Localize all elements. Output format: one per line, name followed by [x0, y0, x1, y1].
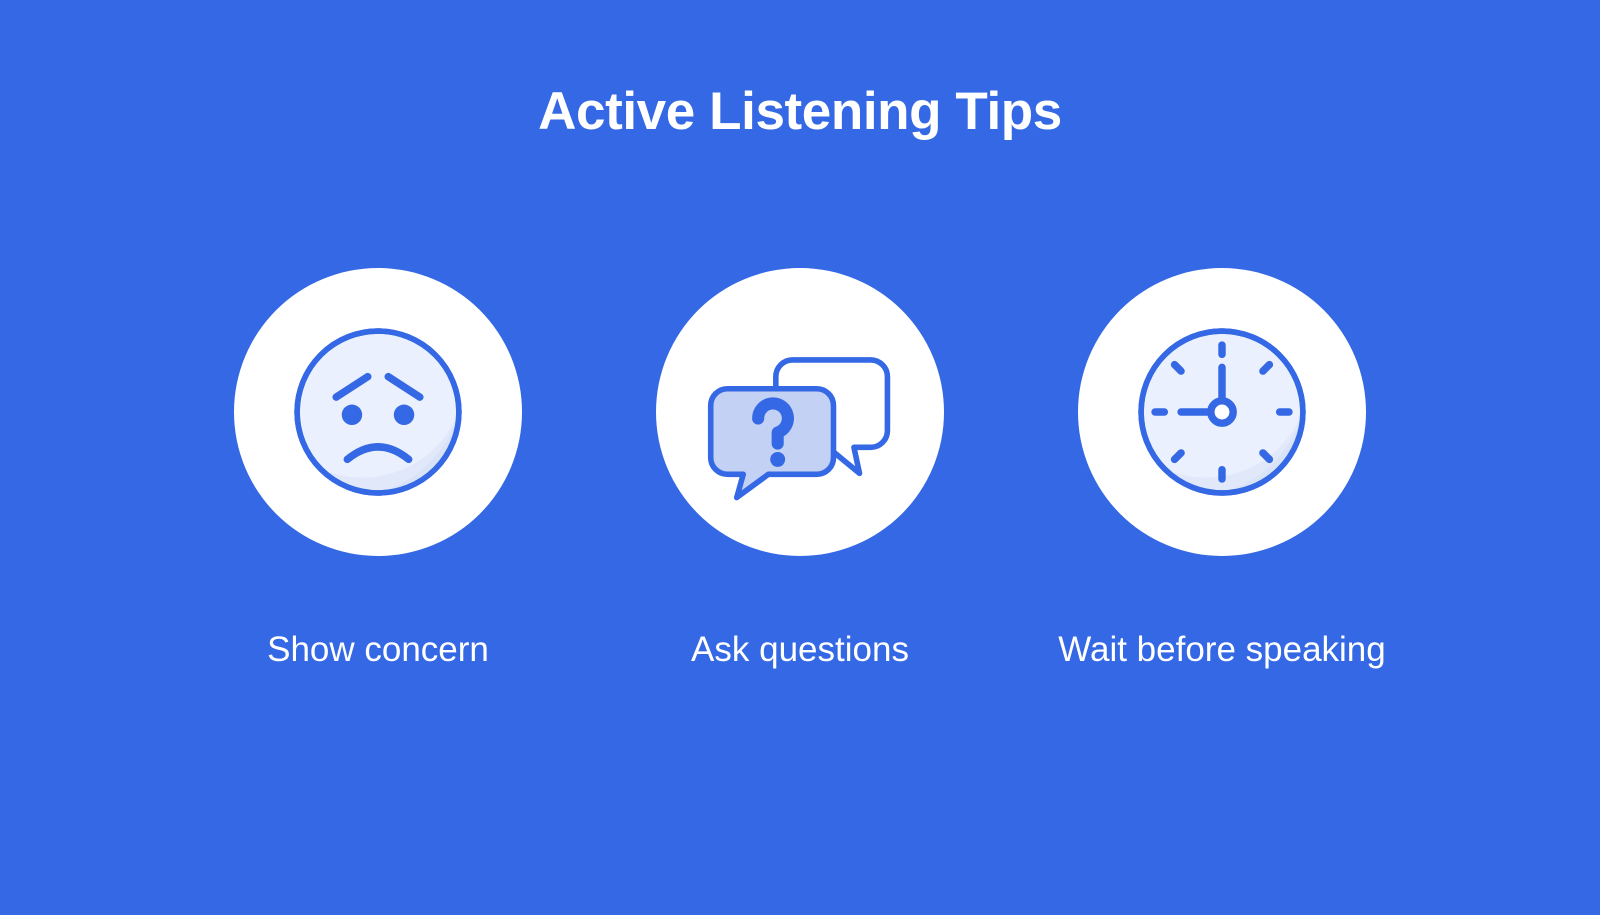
tip-card-show-concern: Show concern	[167, 268, 589, 671]
speech-bubbles-question-icon	[707, 319, 893, 505]
tip-label-ask-questions: Ask questions	[691, 629, 909, 671]
tip-label-wait-before-speaking: Wait before speaking	[1058, 629, 1386, 671]
icon-badge-wait-before-speaking	[1078, 268, 1366, 556]
tip-card-wait-before-speaking: Wait before speaking	[1011, 268, 1433, 671]
tip-card-ask-questions: Ask questions	[589, 268, 1011, 671]
clock-icon	[1129, 319, 1315, 505]
slide-root: Active Listening Tips	[0, 0, 1600, 915]
worried-face-icon	[285, 319, 471, 505]
tip-label-show-concern: Show concern	[267, 629, 489, 671]
page-title: Active Listening Tips	[0, 82, 1600, 143]
icon-badge-ask-questions	[656, 268, 944, 556]
icon-badge-show-concern	[234, 268, 522, 556]
tips-row: Show concern Ask questions	[0, 268, 1600, 671]
